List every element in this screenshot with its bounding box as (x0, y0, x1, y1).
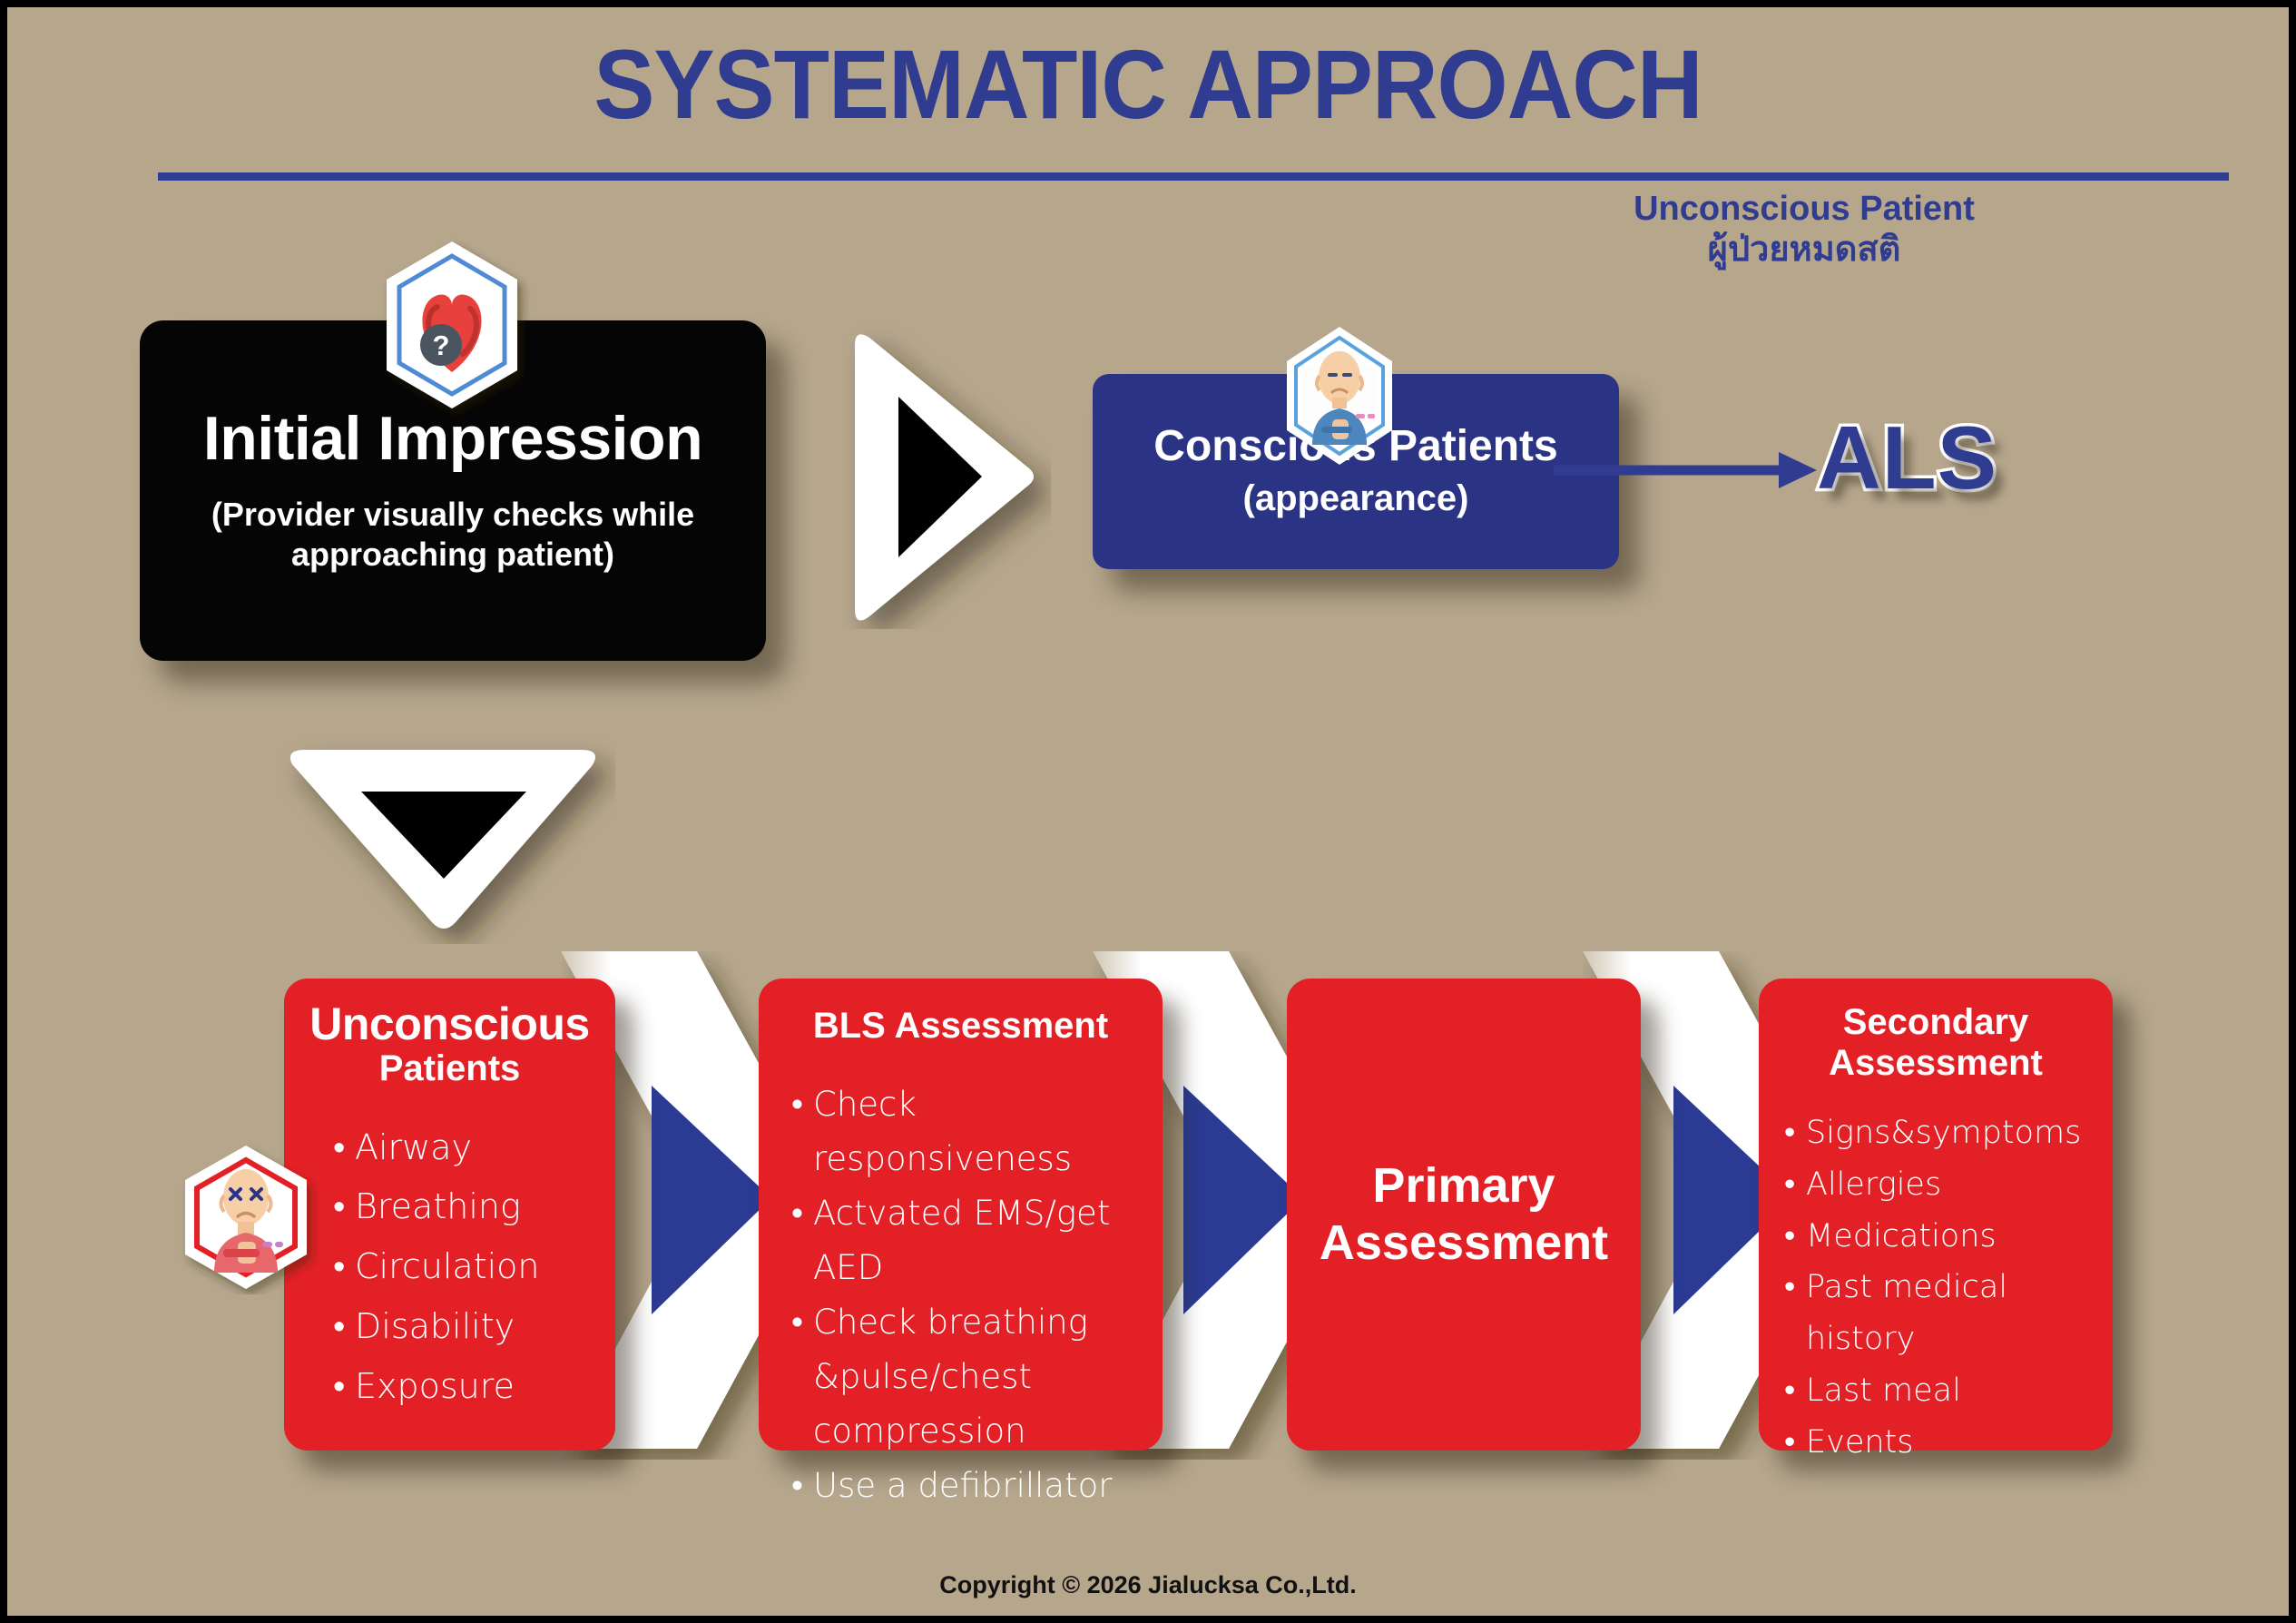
list-item: Disability (331, 1297, 599, 1357)
conscious-patients-subtitle: (appearance) (1243, 478, 1469, 519)
initial-impression-title: Initial Impression (203, 407, 702, 471)
unconscious-title-line1: Unconscious (300, 998, 599, 1050)
secondary-assessment-title: Secondary Assessment (1775, 1002, 2096, 1084)
primary-assessment-title: Primary Assessment (1287, 1157, 1641, 1271)
list-item: Past medical history (1782, 1262, 2096, 1364)
header-subtitle: Unconscious Patient ผู้ป่วยหมดสติ (1387, 189, 2222, 270)
subtitle-thai: ผู้ป่วยหมดสติ (1387, 230, 2222, 270)
unconscious-abcde-list: Airway Breathing Circulation Disability … (300, 1118, 599, 1417)
arrow-right-icon (1550, 443, 1822, 497)
conscious-patient-icon (1276, 323, 1403, 468)
list-item: Medications (1782, 1211, 2096, 1263)
bls-steps-list: Check responsiveness Actvated EMS/get AE… (779, 1077, 1143, 1513)
initial-impression-subtitle: (Provider visually checks while approach… (160, 495, 746, 575)
list-item: Breathing (331, 1177, 599, 1237)
unconscious-patients-title: Unconscious Patients (300, 998, 599, 1089)
secondary-sample-list: Signs&symptoms Allergies Medications Pas… (1775, 1107, 2096, 1468)
title-divider (158, 172, 2229, 181)
list-item: Actvated EMS/get AED (790, 1186, 1143, 1295)
list-item: Signs&symptoms (1782, 1107, 2096, 1159)
list-item: Airway (331, 1118, 599, 1178)
unconscious-title-line2: Patients (300, 1048, 599, 1089)
list-item: Last meal (1782, 1365, 2096, 1417)
heart-question-icon: ? (361, 234, 543, 416)
triangle-right-icon (842, 325, 1051, 629)
copyright-text: Copyright © 2026 Jialucksa Co.,Ltd. (7, 1571, 2289, 1599)
assessment-flow-row: Unconscious Patients Airway Breathing Ci… (7, 951, 2289, 1496)
infographic-canvas: SYSTEMATIC APPROACH Unconscious Patient … (7, 7, 2289, 1616)
unconscious-patient-icon (169, 1140, 323, 1294)
list-item: Events (1782, 1417, 2096, 1469)
secondary-assessment-card[interactable]: Secondary Assessment Signs&symptoms Alle… (1759, 979, 2113, 1451)
subtitle-english: Unconscious Patient (1387, 189, 2222, 230)
list-item: Use a defibrillator (790, 1459, 1143, 1513)
bls-assessment-title: BLS Assessment (779, 1006, 1143, 1047)
unconscious-patients-card[interactable]: Unconscious Patients Airway Breathing Ci… (284, 979, 615, 1451)
page-title: SYSTEMATIC APPROACH (87, 27, 2209, 141)
svg-text:?: ? (433, 330, 450, 361)
list-item: Check breathing &pulse/chest compression (790, 1295, 1143, 1459)
list-item: Circulation (331, 1237, 599, 1297)
primary-assessment-card[interactable]: Primary Assessment (1287, 979, 1641, 1451)
list-item: Exposure (331, 1357, 599, 1417)
als-label: ALS (1817, 407, 1997, 509)
triangle-down-icon (270, 733, 615, 944)
bls-assessment-card[interactable]: BLS Assessment Check responsiveness Actv… (759, 979, 1163, 1451)
list-item: Check responsiveness (790, 1077, 1143, 1186)
list-item: Allergies (1782, 1159, 2096, 1211)
